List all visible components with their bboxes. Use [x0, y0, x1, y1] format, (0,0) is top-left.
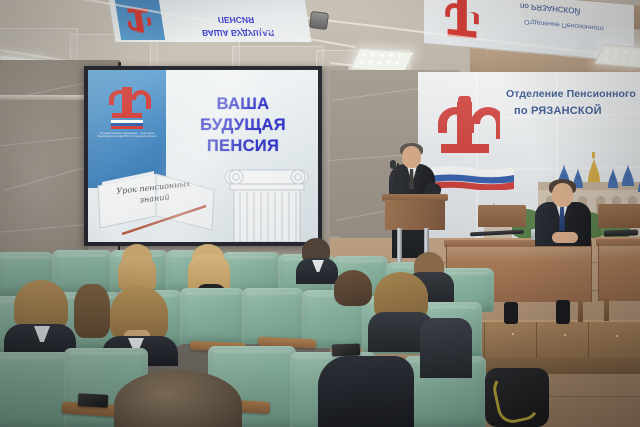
official-head [552, 183, 573, 207]
official-leg [504, 302, 518, 324]
auditorium-seat [242, 288, 304, 344]
presidium-table-front-right [598, 243, 640, 301]
official-hands [552, 232, 578, 243]
audience-hair-7 [334, 270, 372, 306]
microphone-icon-right [604, 229, 638, 236]
audience-shoulders-right [420, 318, 472, 378]
ceiling-speaker-icon [309, 11, 329, 30]
auditorium-seat [0, 352, 72, 427]
speaker-head [402, 146, 421, 168]
smartphone [332, 344, 360, 357]
ceiling-reflection-line1: ВАША БУДУЩАЯ [169, 27, 307, 38]
table-leg [604, 299, 609, 321]
ceiling-light-panel-right [594, 44, 640, 68]
official-leg [556, 300, 570, 324]
auditorium-seat [180, 288, 244, 344]
conference-hall-photo: ВАША БУДУЩАЯ ПЕНСИЯ по РЯЗАНСКОЙ Отделен… [0, 0, 640, 427]
audience-shoulders-foreground [318, 356, 414, 427]
ceiling-banner-line1: по РЯЗАНСКОЙ [520, 1, 580, 15]
podium-microphone-icon [390, 160, 396, 169]
screen-glare [88, 70, 318, 242]
chair-back-right [598, 204, 640, 228]
podium [385, 200, 445, 230]
ceiling-banner-line2: Отделение Пенсионного [524, 18, 604, 32]
audience-braid [74, 284, 110, 338]
audience-hair-blonde-1 [118, 256, 156, 290]
table-leg [578, 300, 583, 322]
smartphone [78, 393, 109, 408]
chair-back-left [478, 205, 526, 227]
